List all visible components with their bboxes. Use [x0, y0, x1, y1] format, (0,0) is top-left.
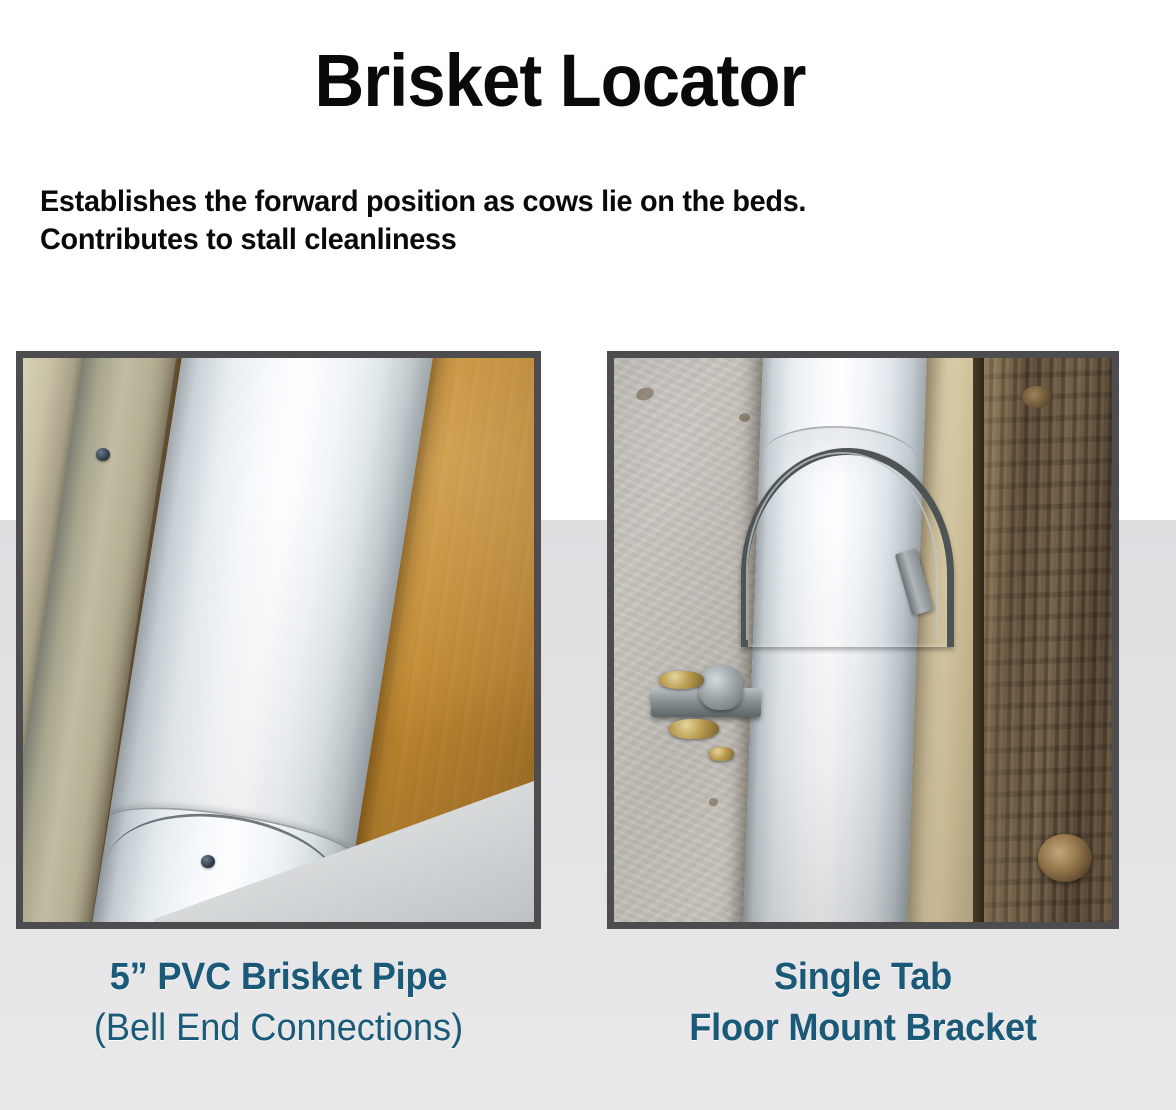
concrete-blemish-4 — [709, 798, 718, 806]
concrete-blemish-2 — [739, 413, 750, 422]
caption-pvc-brisket-pipe: 5” PVC Brisket Pipe (Bell End Connection… — [16, 952, 541, 1054]
anchor-bolt-lower — [669, 719, 719, 739]
photo-frame-pvc-brisket-pipe — [16, 351, 541, 929]
plank-screw-head-lower — [201, 855, 215, 868]
plank-screw-head-upper — [96, 448, 110, 461]
anchor-bolt-small — [709, 747, 734, 761]
photo-frame-single-tab-floor-mount-bracket — [607, 351, 1119, 929]
caption-left-line-1: 5” PVC Brisket Pipe — [29, 952, 528, 1002]
subtitle-line-2: Contributes to stall cleanliness — [40, 221, 1106, 259]
wood-knot-lower — [1038, 834, 1092, 882]
caption-right-line-2: Floor Mount Bracket — [620, 1002, 1106, 1054]
photo-floor-mount-bracket — [614, 358, 1112, 922]
caption-floor-mount-bracket: Single Tab Floor Mount Bracket — [607, 952, 1119, 1054]
caption-left-line-2: (Bell End Connections) — [29, 1002, 528, 1054]
subtitle-line-1: Establishes the forward position as cows… — [40, 183, 1106, 221]
page-subtitle: Establishes the forward position as cows… — [40, 183, 1106, 259]
photo-pvc-brisket-pipe — [23, 358, 534, 922]
bracket-tab-boss — [699, 665, 744, 710]
board-shadow-edge — [973, 358, 984, 922]
page-title: Brisket Locator — [39, 38, 1081, 124]
anchor-bolt-upper — [659, 671, 704, 689]
poster-page: Brisket Locator Establishes the forward … — [0, 0, 1176, 1110]
caption-right-line-1: Single Tab — [620, 952, 1106, 1002]
